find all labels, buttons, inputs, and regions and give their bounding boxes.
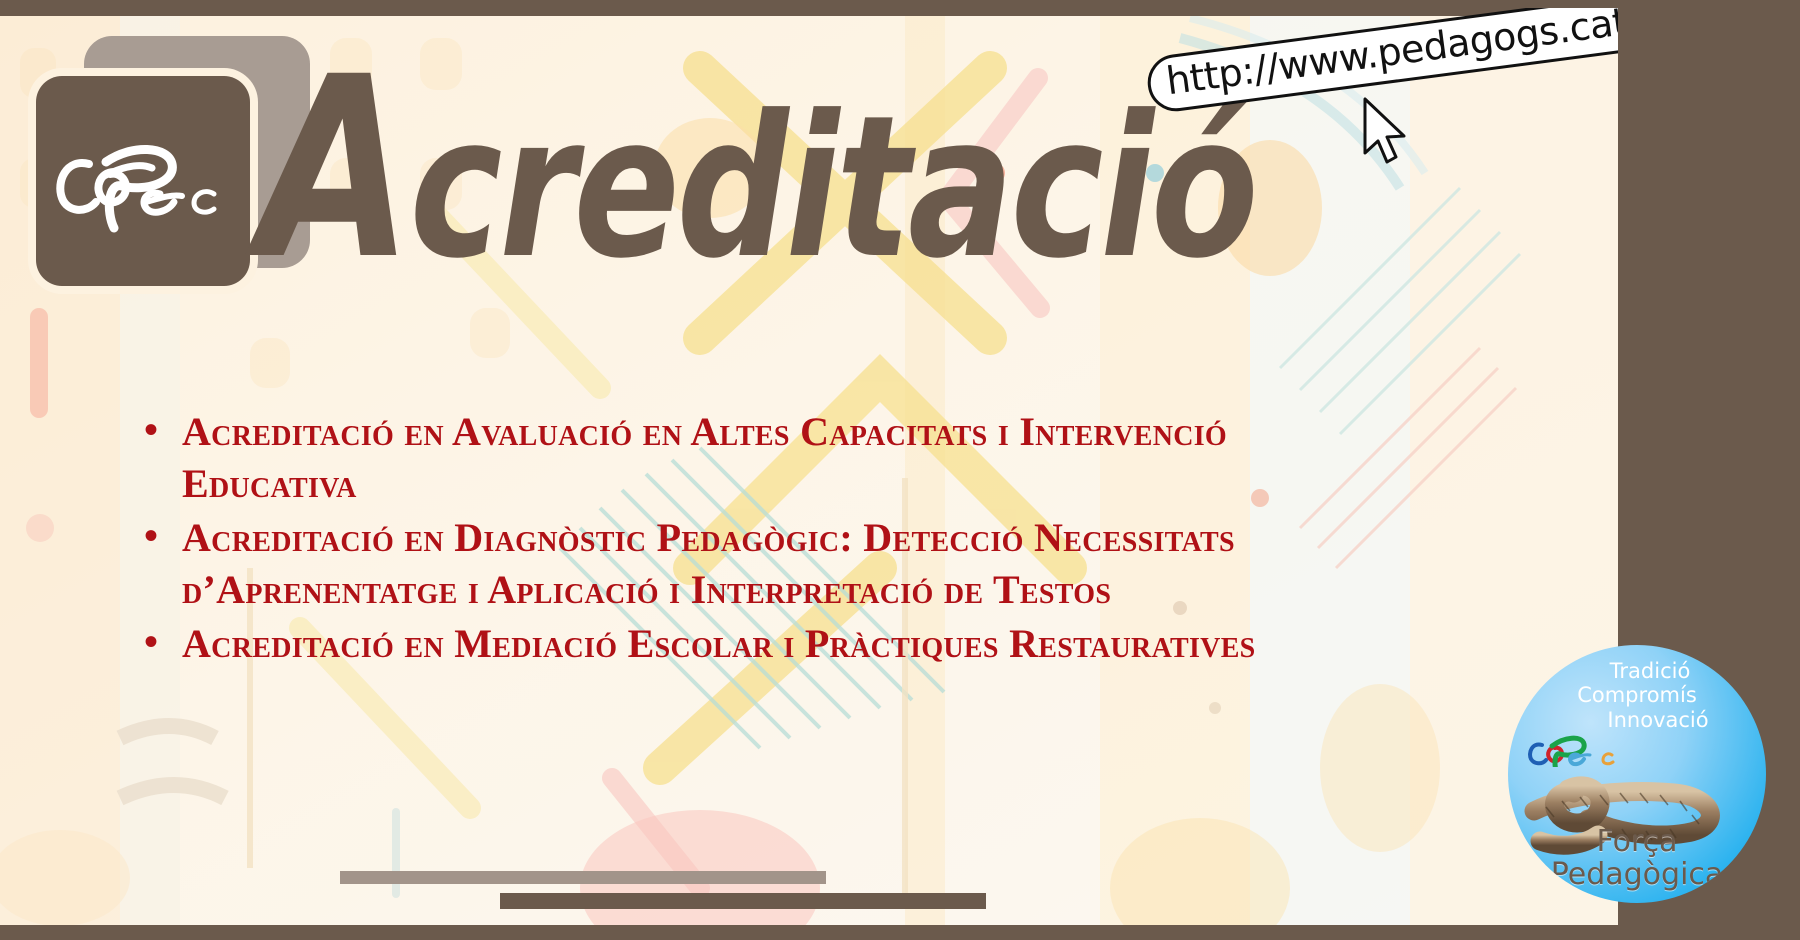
- footer-bar-light: [340, 871, 826, 884]
- slide-root: Acreditació http://www.pedagogs.cat Acre…: [0, 0, 1800, 940]
- seal-name-line-1: Força: [1508, 825, 1766, 858]
- page-title: Acreditació: [258, 44, 1255, 294]
- seal-motto: Tradició Compromís Innovació: [1508, 659, 1766, 732]
- copec-script-icon: [42, 102, 242, 252]
- seal-motto-line-1: Tradició: [1508, 659, 1766, 683]
- page-title-rest: creditació: [410, 74, 1256, 302]
- slide-canvas: Acreditació http://www.pedagogs.cat Acre…: [0, 8, 1618, 933]
- copec-logo-badge: [36, 76, 250, 286]
- seal-name: Força Pedagògica: [1508, 825, 1766, 891]
- list-item: Acreditació en Avaluació en Altes Capaci…: [140, 406, 1320, 510]
- footer-bar-dark: [500, 893, 986, 909]
- list-item: Acreditació en Diagnòstic Pedagògic: Det…: [140, 512, 1320, 616]
- forca-pedagogica-seal: Tradició Compromís Innovació: [1508, 645, 1766, 903]
- list-item: Acreditació en Mediació Escolar i Pràcti…: [140, 618, 1320, 670]
- seal-motto-line-2: Compromís: [1508, 683, 1766, 707]
- accreditation-list: Acreditació en Avaluació en Altes Capaci…: [140, 406, 1320, 672]
- top-rule: [0, 8, 1618, 16]
- seal-name-line-2: Pedagògica: [1508, 858, 1766, 891]
- page-title-initial: A: [258, 23, 410, 314]
- mouse-cursor-icon: [1359, 96, 1419, 172]
